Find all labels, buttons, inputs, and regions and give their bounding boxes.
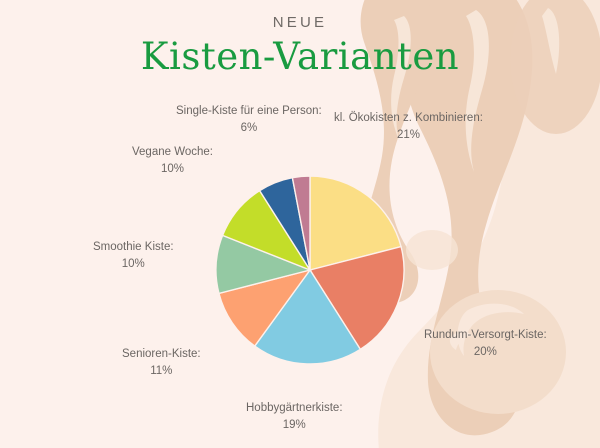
page-title: Kisten-Varianten xyxy=(0,35,600,78)
pie-label-value: 10% xyxy=(132,161,213,178)
pie-label-name: Rundum-Versorgt-Kiste: xyxy=(424,327,547,344)
title-block: NEUE Kisten-Varianten xyxy=(0,14,600,78)
pie-slice-group xyxy=(216,176,404,364)
infographic-canvas: NEUE Kisten-Varianten kl. Ökokisten z. K… xyxy=(0,0,600,448)
pie-label-value: 20% xyxy=(424,344,547,361)
pie-label-senioren-kiste: Senioren-Kiste: 11% xyxy=(122,346,201,379)
decorative-blob-faint xyxy=(406,230,458,270)
pie-chart xyxy=(215,175,405,365)
pie-chart-svg xyxy=(215,175,405,365)
pie-label-name: Smoothie Kiste: xyxy=(93,239,174,256)
pie-label-name: kl. Ökokisten z. Kombinieren: xyxy=(334,110,483,127)
pie-label-kl-oekokisten: kl. Ökokisten z. Kombinieren: 21% xyxy=(334,110,483,143)
pie-label-value: 6% xyxy=(176,120,322,137)
pie-label-value: 21% xyxy=(334,127,483,144)
pie-label-value: 10% xyxy=(93,256,174,273)
pie-label-single-kiste: Single-Kiste für eine Person: 6% xyxy=(176,103,322,136)
pie-label-vegane-woche: Vegane Woche: 10% xyxy=(132,144,213,177)
pie-label-name: Hobbygärtnerkiste: xyxy=(246,400,343,417)
pie-label-name: Vegane Woche: xyxy=(132,144,213,161)
pie-label-name: Senioren-Kiste: xyxy=(122,346,201,363)
pie-label-hobbygaertnerkiste: Hobbygärtnerkiste: 19% xyxy=(246,400,343,433)
pie-label-name: Single-Kiste für eine Person: xyxy=(176,103,322,120)
pie-label-smoothie-kiste: Smoothie Kiste: 10% xyxy=(93,239,174,272)
pie-label-rundum-versorgt-kiste: Rundum-Versorgt-Kiste: 20% xyxy=(424,327,547,360)
pie-label-value: 19% xyxy=(246,417,343,434)
eyebrow-text: NEUE xyxy=(0,14,600,31)
pie-label-value: 11% xyxy=(122,363,201,380)
